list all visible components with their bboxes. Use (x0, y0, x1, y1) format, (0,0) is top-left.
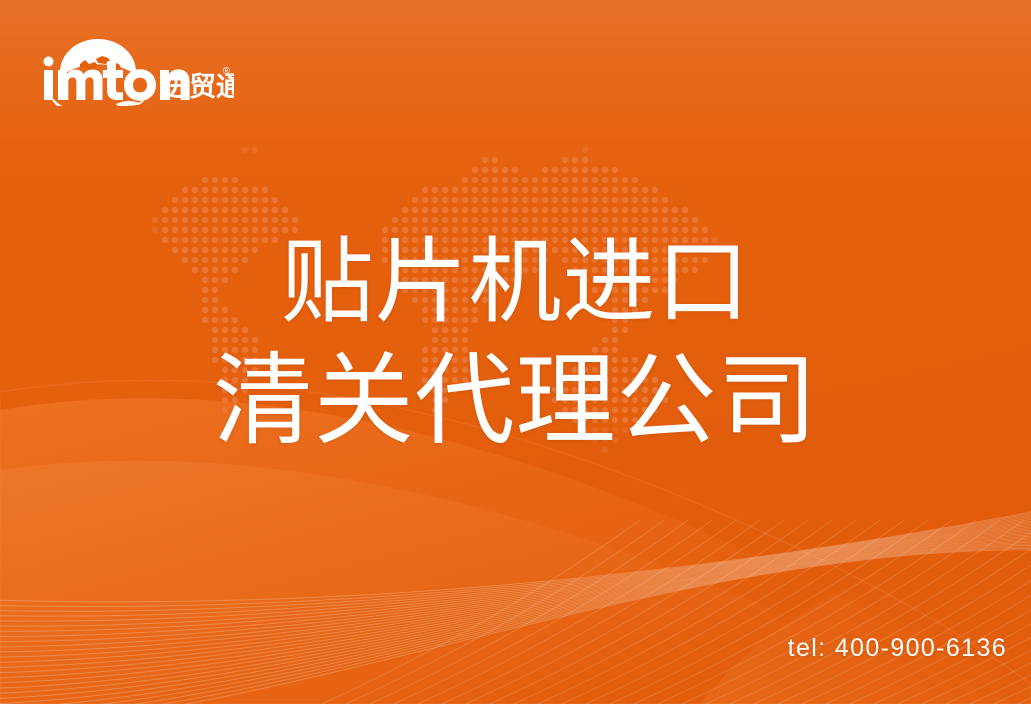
headline-line-1: 贴片机进口 (0, 228, 1031, 338)
page-title: 贴片机进口 清关代理公司 (0, 228, 1031, 460)
company-logo[interactable]: 进贸通 ® (34, 28, 234, 106)
headline-line-2: 清关代理公司 (0, 342, 1031, 460)
telephone-number[interactable]: tel: 400-900-6136 (788, 634, 1007, 663)
promotional-banner: 进贸通 ® 贴片机进口 清关代理公司 tel: 400-900-6136 (0, 0, 1031, 704)
registered-trademark-icon: ® (223, 66, 231, 77)
